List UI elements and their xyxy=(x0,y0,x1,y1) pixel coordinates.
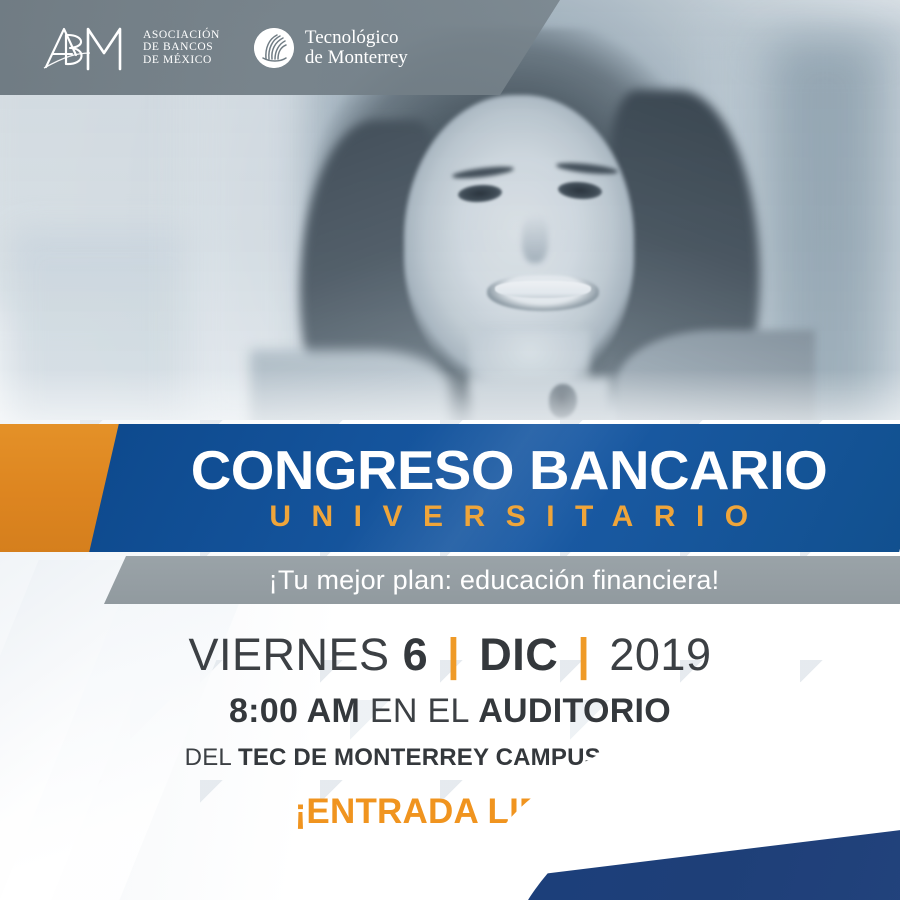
event-month: DIC xyxy=(479,629,558,680)
tagline-text: ¡Tu mejor plan: educación financiera! xyxy=(104,556,884,604)
event-place: AUDITORIO xyxy=(478,692,671,730)
tec-emblem-icon xyxy=(254,28,294,68)
abm-line-3: DE MÉXICO xyxy=(143,54,220,67)
title-banner-blue xyxy=(89,424,900,552)
event-time-connector: EN EL xyxy=(370,692,469,730)
abm-line-2: DE BANCOS xyxy=(143,41,220,54)
date-separator-2: | xyxy=(571,629,596,680)
event-weekday: VIERNES xyxy=(189,629,390,680)
event-time-line: 8:00 AM EN EL AUDITORIO xyxy=(229,692,671,730)
poster-canvas: ASOCIACIÓN DE BANCOS DE MÉXICO xyxy=(0,0,900,900)
date-separator-1: | xyxy=(441,629,466,680)
abm-monogram-icon xyxy=(42,23,134,73)
venue-prefix: DEL xyxy=(185,744,231,771)
logo-strip: ASOCIACIÓN DE BANCOS DE MÉXICO xyxy=(0,0,560,95)
event-date-line: VIERNES 6 | DIC | 2019 xyxy=(189,630,712,680)
tec-logo-text: Tecnológico de Monterrey xyxy=(305,28,408,68)
event-year: 2019 xyxy=(609,629,711,680)
event-day: 6 xyxy=(403,629,429,680)
abm-logo-text: ASOCIACIÓN DE BANCOS DE MÉXICO xyxy=(143,29,220,67)
tec-line-1: Tecnológico xyxy=(305,28,408,48)
abm-logo: ASOCIACIÓN DE BANCOS DE MÉXICO xyxy=(42,23,220,73)
tec-de-monterrey-logo: Tecnológico de Monterrey xyxy=(254,28,408,68)
event-clock: 8:00 AM xyxy=(229,692,360,730)
tec-line-2: de Monterrey xyxy=(305,48,408,68)
abm-line-1: ASOCIACIÓN xyxy=(143,29,220,42)
